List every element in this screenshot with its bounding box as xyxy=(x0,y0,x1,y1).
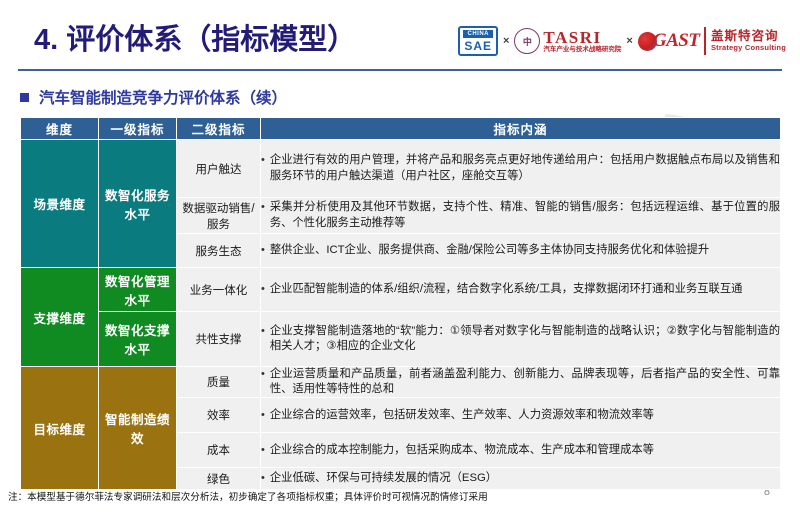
tasri-name: TASRI xyxy=(543,29,621,46)
level1-indicator-cell: 数智化支撑水平 xyxy=(99,312,177,367)
level2-indicator-cell: 业务一体化 xyxy=(177,268,261,312)
indicator-meaning-text: 采集并分析使用及其他环节数据，支持个性、精准、智能的销售/服务：包括远程运维、基… xyxy=(270,200,780,230)
tasri-subtitle: 汽车产业与技术战略研究院 xyxy=(543,47,621,54)
bullet-dot-icon: • xyxy=(261,200,265,215)
gast-chinese-block: 盖斯特咨询 Strategy Consulting xyxy=(711,30,786,52)
bullet-dot-icon: • xyxy=(261,408,265,423)
indicator-meaning-cell: •企业匹配智能制造的体系/组织/流程，结合数字化系统/工具，支撑数据闭环打通和业… xyxy=(261,268,781,312)
level1-indicator-cell: 数智化服务水平 xyxy=(99,140,177,268)
bullet-dot-icon: • xyxy=(261,324,265,339)
logo-separator-1: × xyxy=(503,35,509,47)
tasri-wordmark: TASRI 汽车产业与技术战略研究院 xyxy=(543,29,621,54)
section-subtitle: 汽车智能制造竞争力评价体系（续） xyxy=(20,86,287,108)
indicator-meaning-cell: •企业综合的运营效率，包括研发效率、生产效率、人力资源效率和物流效率等 xyxy=(261,398,781,433)
bullet-dot-icon: • xyxy=(261,153,265,168)
gast-name: GAST xyxy=(653,30,700,52)
header-divider xyxy=(18,69,782,71)
column-header-level1: 一级指标 xyxy=(99,118,177,140)
tasri-logo: 中 TASRI 汽车产业与技术战略研究院 xyxy=(514,28,621,54)
indicator-meaning-text: 企业综合的成本控制能力，包括采购成本、物流成本、生产成本和管理成本等 xyxy=(270,443,780,458)
gast-logo: GAST 盖斯特咨询 Strategy Consulting xyxy=(638,27,786,55)
page-title: 4. 评价体系（指标模型） xyxy=(34,16,356,58)
indicator-meaning-text: 企业综合的运营效率，包括研发效率、生产效率、人力资源效率和物流效率等 xyxy=(270,408,780,423)
indicator-meaning-text: 企业匹配智能制造的体系/组织/流程，结合数字化系统/工具，支撑数据闭环打通和业务… xyxy=(270,282,780,297)
dimension-cell: 支撑维度 xyxy=(21,268,99,367)
evaluation-matrix-wrapper: 维度 一级指标 二级指标 指标内涵 场景维度数智化服务水平用户触达•企业进行有效… xyxy=(20,117,780,490)
indicator-meaning-text: 整供企业、ICT企业、服务提供商、金融/保险公司等多主体协同支持服务优化和体验提… xyxy=(270,243,780,258)
china-sae-top-label: CHINA xyxy=(463,30,493,38)
bullet-dot-icon: • xyxy=(261,443,265,458)
level2-indicator-cell: 用户触达 xyxy=(177,140,261,198)
dimension-cell: 目标维度 xyxy=(21,367,99,490)
gast-english-tagline: Strategy Consulting xyxy=(711,44,786,52)
indicator-meaning-cell: •企业低碳、环保与可持续发展的情况（ESG） xyxy=(261,468,781,490)
level2-indicator-cell: 成本 xyxy=(177,433,261,468)
column-header-meaning: 指标内涵 xyxy=(261,118,781,140)
table-head: 维度 一级指标 二级指标 指标内涵 xyxy=(21,118,781,140)
square-bullet-icon xyxy=(20,93,29,102)
level2-indicator-cell: 共性支撑 xyxy=(177,312,261,367)
indicator-meaning-cell: •企业运营质量和产品质量，前者涵盖盈利能力、创新能力、品牌表现等，后者指产品的安… xyxy=(261,367,781,398)
bullet-dot-icon: • xyxy=(261,471,265,486)
indicator-meaning-cell: •企业支撑智能制造落地的“软”能力：①领导者对数字化与智能制造的战略认识；②数字… xyxy=(261,312,781,367)
indicator-meaning-text: 企业低碳、环保与可持续发展的情况（ESG） xyxy=(270,471,780,486)
indicator-meaning-cell: •采集并分析使用及其他环节数据，支持个性、精准、智能的销售/服务：包括远程运维、… xyxy=(261,198,781,234)
indicator-meaning-cell: •整供企业、ICT企业、服务提供商、金融/保险公司等多主体协同支持服务优化和体验… xyxy=(261,234,781,268)
bullet-dot-icon: • xyxy=(261,367,265,382)
gast-chinese-name: 盖斯特咨询 xyxy=(711,30,786,44)
indicator-meaning-text: 企业进行有效的用户管理，并将产品和服务亮点更好地传递给用户：包括用户数据触点布局… xyxy=(270,153,780,183)
column-header-level2: 二级指标 xyxy=(177,118,261,140)
level2-indicator-cell: 数据驱动销售/服务 xyxy=(177,198,261,234)
logo-bar: CHINA SAE × 中 TASRI 汽车产业与技术战略研究院 × GAST … xyxy=(458,22,786,60)
column-header-dimension: 维度 xyxy=(21,118,99,140)
tasri-seal-icon: 中 xyxy=(514,28,540,54)
level2-indicator-cell: 绿色 xyxy=(177,468,261,490)
evaluation-matrix-table: 维度 一级指标 二级指标 指标内涵 场景维度数智化服务水平用户触达•企业进行有效… xyxy=(20,117,781,490)
level2-indicator-cell: 服务生态 xyxy=(177,234,261,268)
table-row: 目标维度智能制造绩效质量•企业运营质量和产品质量，前者涵盖盈利能力、创新能力、品… xyxy=(21,367,781,398)
table-row: 场景维度数智化服务水平用户触达•企业进行有效的用户管理，并将产品和服务亮点更好地… xyxy=(21,140,781,198)
table-body: 场景维度数智化服务水平用户触达•企业进行有效的用户管理，并将产品和服务亮点更好地… xyxy=(21,140,781,490)
level2-indicator-cell: 效率 xyxy=(177,398,261,433)
china-sae-logo: CHINA SAE xyxy=(458,26,498,56)
table-row: 数智化支撑水平共性支撑•企业支撑智能制造落地的“软”能力：①领导者对数字化与智能… xyxy=(21,312,781,367)
table-header-row: 维度 一级指标 二级指标 指标内涵 xyxy=(21,118,781,140)
gast-globe-icon xyxy=(638,32,657,51)
footnote-text: 注：本模型基于德尔菲法专家调研法和层次分析法，初步确定了各项指标权重；具体评价时… xyxy=(8,489,488,503)
section-subtitle-label: 汽车智能制造竞争力评价体系（续） xyxy=(39,86,287,108)
indicator-meaning-cell: •企业综合的成本控制能力，包括采购成本、物流成本、生产成本和管理成本等 xyxy=(261,433,781,468)
level1-indicator-cell: 数智化管理水平 xyxy=(99,268,177,312)
indicator-meaning-text: 企业运营质量和产品质量，前者涵盖盈利能力、创新能力、品牌表现等，后者指产品的安全… xyxy=(270,367,780,397)
table-row: 支撑维度数智化管理水平业务一体化•企业匹配智能制造的体系/组织/流程，结合数字化… xyxy=(21,268,781,312)
china-sae-bottom-label: SAE xyxy=(464,40,492,52)
bullet-dot-icon: • xyxy=(261,282,265,297)
bullet-dot-icon: • xyxy=(261,243,265,258)
gast-divider xyxy=(704,27,706,55)
level2-indicator-cell: 质量 xyxy=(177,367,261,398)
slide-header: 4. 评价体系（指标模型） CHINA SAE × 中 TASRI 汽车产业与技… xyxy=(0,0,800,72)
dimension-cell: 场景维度 xyxy=(21,140,99,268)
level1-indicator-cell: 智能制造绩效 xyxy=(99,367,177,490)
indicator-meaning-text: 企业支撑智能制造落地的“软”能力：①领导者对数字化与智能制造的战略认识；②数字化… xyxy=(270,324,780,354)
logo-separator-2: × xyxy=(626,35,632,47)
indicator-meaning-cell: •企业进行有效的用户管理，并将产品和服务亮点更好地传递给用户：包括用户数据触点布… xyxy=(261,140,781,198)
